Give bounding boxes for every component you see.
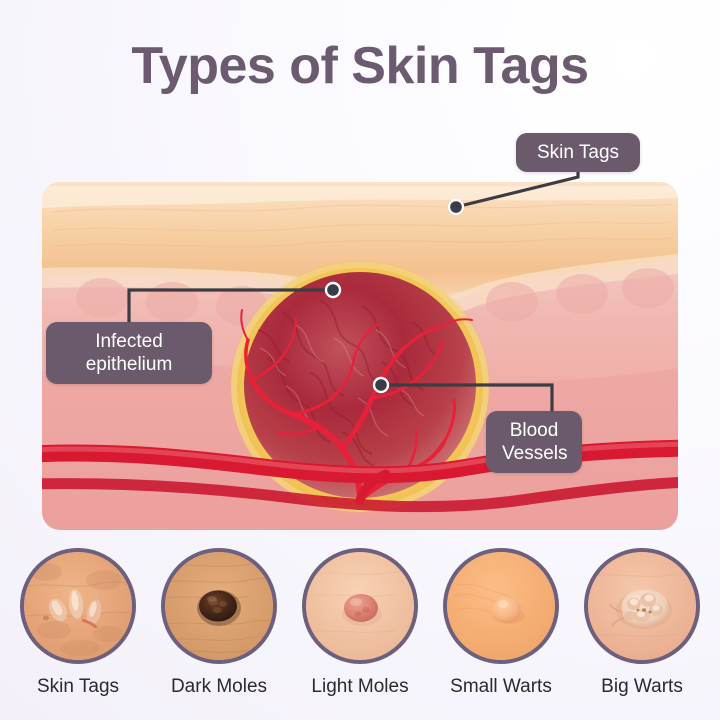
thumbnail-image-skin-tags[interactable]: [20, 548, 136, 664]
thumbnail-item-small-warts[interactable]: Small Warts: [441, 548, 561, 708]
callout-badge-skin-tags[interactable]: Skin Tags: [516, 133, 640, 172]
thumbnail-item-skin-tags[interactable]: Skin Tags: [18, 548, 138, 708]
callout-label-vessels-line2: Vessels: [502, 442, 566, 465]
infographic-page: Types of Skin Tags: [0, 0, 720, 720]
thumbnail-item-light-moles[interactable]: Light Moles: [300, 548, 420, 708]
thumbnail-label-small-warts: Small Warts: [450, 676, 552, 698]
callout-label-epithelium-line1: Infected: [62, 330, 196, 353]
thumbnail-image-dark-moles[interactable]: [161, 548, 277, 664]
callout-badge-infected-epithelium[interactable]: Infected epithelium: [46, 322, 212, 384]
thumbnail-image-small-warts[interactable]: [443, 548, 559, 664]
thumbnail-item-big-warts[interactable]: Big Warts: [582, 548, 702, 708]
callout-label-epithelium-line2: epithelium: [62, 353, 196, 376]
callout-badge-blood-vessels[interactable]: Blood Vessels: [486, 411, 582, 473]
callout-label-skin-tags: Skin Tags: [537, 142, 619, 163]
thumbnail-item-dark-moles[interactable]: Dark Moles: [159, 548, 279, 708]
thumbnail-label-dark-moles: Dark Moles: [171, 676, 267, 698]
thumbnail-label-skin-tags: Skin Tags: [37, 676, 119, 698]
skin-type-thumbnail-row: Skin Tags: [0, 548, 720, 708]
thumbnail-label-light-moles: Light Moles: [311, 676, 408, 698]
thumbnail-label-big-warts: Big Warts: [601, 676, 683, 698]
thumbnail-image-light-moles[interactable]: [302, 548, 418, 664]
thumbnail-image-big-warts[interactable]: [584, 548, 700, 664]
callout-label-vessels-line1: Blood: [502, 419, 566, 442]
page-title: Types of Skin Tags: [0, 38, 720, 95]
